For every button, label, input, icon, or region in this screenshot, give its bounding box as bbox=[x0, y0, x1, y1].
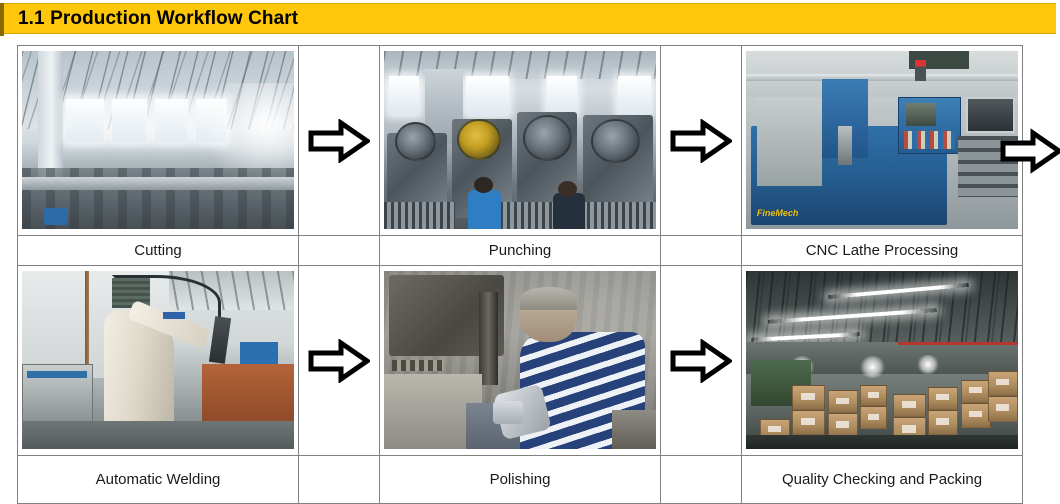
flywheel bbox=[523, 115, 572, 161]
photo-cell-cutting bbox=[18, 46, 299, 236]
photo-punching bbox=[384, 51, 656, 229]
carton bbox=[860, 385, 887, 406]
lamp-glow bbox=[860, 356, 884, 377]
spindle bbox=[838, 126, 852, 165]
parts-crate bbox=[580, 202, 656, 229]
carton bbox=[792, 385, 825, 410]
photo-cell-punching bbox=[380, 46, 661, 236]
window bbox=[112, 99, 147, 142]
window bbox=[547, 76, 577, 115]
control-buttons bbox=[904, 131, 956, 149]
caption-spacer-1 bbox=[299, 236, 380, 266]
caption-spacer-3 bbox=[299, 456, 380, 504]
steel-bar-rail bbox=[22, 177, 294, 189]
ceiling-duct bbox=[746, 74, 1018, 81]
carton bbox=[961, 380, 991, 403]
worker-glove bbox=[493, 401, 523, 424]
flywheel bbox=[591, 119, 640, 164]
control-screen bbox=[906, 103, 936, 126]
photo-polishing bbox=[384, 271, 656, 449]
production-workflow-table: FineMech Cutting Punching CNC Lathe Proc… bbox=[17, 45, 1023, 504]
caption-polishing: Polishing bbox=[380, 456, 661, 504]
caption-punching: Punching bbox=[380, 236, 661, 266]
arrow-cell-2 bbox=[661, 46, 742, 236]
page-title: 1.1 Production Workflow Chart bbox=[4, 8, 298, 30]
photo-cell-welding bbox=[18, 266, 299, 456]
blue-machine bbox=[240, 342, 278, 363]
worker-head bbox=[558, 181, 577, 197]
block-arrow-right-icon bbox=[670, 119, 732, 163]
pillar bbox=[38, 51, 62, 183]
window bbox=[389, 76, 419, 115]
machine-quill bbox=[479, 292, 498, 385]
carton bbox=[961, 403, 991, 428]
floor bbox=[22, 421, 294, 449]
welding-torch bbox=[209, 316, 232, 364]
table-row-photos-bottom bbox=[18, 266, 1023, 456]
worker-blue-shirt bbox=[468, 190, 501, 229]
carton bbox=[928, 387, 958, 410]
photo-automatic-welding bbox=[22, 271, 294, 449]
caption-spacer-4 bbox=[661, 456, 742, 504]
parts-crate bbox=[384, 202, 455, 229]
carton bbox=[893, 394, 926, 417]
caption-cutting: Cutting bbox=[18, 236, 299, 266]
block-arrow-right-icon bbox=[1000, 129, 1060, 173]
block-arrow-right-icon bbox=[308, 339, 370, 383]
red-stripe bbox=[898, 342, 1018, 345]
flywheel bbox=[395, 122, 436, 161]
carton bbox=[828, 390, 858, 413]
worker-dark-shirt bbox=[553, 193, 586, 229]
machine-brand-text: FineMech bbox=[757, 208, 799, 218]
window bbox=[466, 76, 510, 115]
cart-blue-frame bbox=[27, 371, 87, 378]
signal-lamp bbox=[915, 60, 926, 81]
photo-cell-polishing bbox=[380, 266, 661, 456]
flywheel-yellow bbox=[457, 119, 501, 160]
worker-hair bbox=[520, 287, 577, 310]
caption-quality-checking-and-packing: Quality Checking and Packing bbox=[742, 456, 1023, 504]
window bbox=[155, 99, 188, 142]
carton bbox=[988, 396, 1018, 423]
table-row-photos-top: FineMech bbox=[18, 46, 1023, 236]
photo-cell-cnc: FineMech bbox=[742, 46, 1023, 236]
carton bbox=[792, 410, 825, 435]
photo-cutting bbox=[22, 51, 294, 229]
arrow-cell-5-overflow bbox=[1000, 129, 1060, 178]
monitor bbox=[966, 97, 1015, 133]
machine-enclosure bbox=[757, 97, 822, 186]
floor bbox=[746, 435, 1018, 449]
hand-tools bbox=[392, 360, 444, 371]
stool bbox=[612, 410, 656, 449]
window bbox=[66, 99, 104, 142]
carton bbox=[988, 371, 1018, 396]
arrow-cell-4 bbox=[661, 266, 742, 456]
window bbox=[618, 76, 651, 115]
carton bbox=[928, 410, 958, 435]
machine-brand-label: FineMech bbox=[757, 208, 799, 218]
block-arrow-right-icon bbox=[670, 339, 732, 383]
photo-cell-packing bbox=[742, 266, 1023, 456]
section-header-banner: 1.1 Production Workflow Chart bbox=[4, 3, 1056, 34]
caption-automatic-welding: Automatic Welding bbox=[18, 456, 299, 504]
table-row-captions-bottom: Automatic Welding Polishing Quality Chec… bbox=[18, 456, 1023, 504]
caption-cnc-lathe-processing: CNC Lathe Processing bbox=[742, 236, 1023, 266]
block-arrow-right-icon bbox=[308, 119, 370, 163]
blue-drum bbox=[44, 208, 68, 226]
arrow-cell-1 bbox=[299, 46, 380, 236]
carton bbox=[860, 406, 887, 429]
table-row-captions-top: Cutting Punching CNC Lathe Processing bbox=[18, 236, 1023, 266]
photo-quality-checking-packing bbox=[746, 271, 1018, 449]
orange-partition bbox=[202, 364, 294, 425]
arrow-cell-3 bbox=[299, 266, 380, 456]
caption-spacer-2 bbox=[661, 236, 742, 266]
photo-cnc-lathe: FineMech bbox=[746, 51, 1018, 229]
